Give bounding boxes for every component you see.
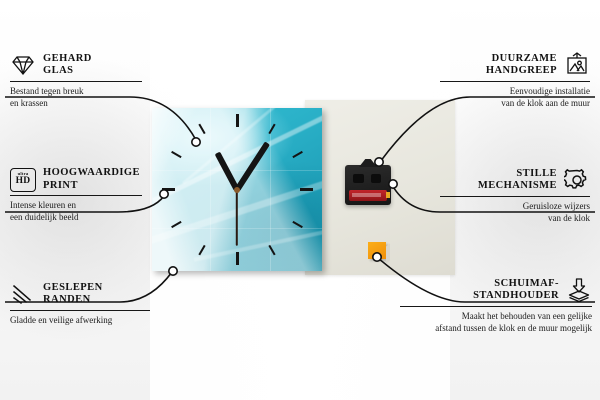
feature-stille-mechanisme: STILLE MECHANISME Geruisloze wijzers van… — [440, 167, 590, 224]
feature-desc-line2: afstand tussen de klok en de muur mogeli… — [435, 323, 592, 333]
feature-desc-line2: van de klok — [548, 213, 590, 223]
feature-desc-line1: Geruisloze wijzers — [523, 201, 590, 211]
feature-description: Bestand tegen breuk en krassen — [10, 86, 142, 109]
feature-desc-line2: en krassen — [10, 98, 48, 108]
feature-desc-line1: Bestand tegen breuk — [10, 86, 83, 96]
feature-hoogwaardige-print: ultra HD HOOGWAARDIGE PRINT Intense kleu… — [10, 167, 142, 223]
feature-desc-line1: Gladde en veilige afwerking — [10, 315, 112, 325]
feature-title: STILLE MECHANISME — [478, 168, 557, 193]
feature-header: GEHARD GLAS — [10, 52, 142, 78]
feature-callouts: GEHARD GLAS Bestand tegen breuk en krass… — [0, 0, 600, 400]
feature-divider — [400, 306, 592, 307]
feature-header: GESLEPEN RANDEN — [10, 281, 150, 307]
gear-icon — [564, 167, 590, 193]
feature-title-line2: HANDGREEP — [486, 65, 557, 76]
feature-title-line2: GLAS — [43, 65, 73, 76]
feature-title-line1: STILLE — [516, 168, 557, 179]
feature-header: STILLE MECHANISME — [440, 167, 590, 193]
feature-description: Intense kleuren en een duidelijk beeld — [10, 200, 142, 223]
feature-header: DUURZAME HANDGREEP — [440, 52, 590, 78]
feature-description: Gladde en veilige afwerking — [10, 315, 150, 327]
feature-gehard-glas: GEHARD GLAS Bestand tegen breuk en krass… — [10, 52, 142, 109]
feature-title-line1: HOOGWAARDIGE — [43, 167, 140, 178]
feature-divider — [10, 310, 150, 311]
feature-divider — [440, 196, 590, 197]
feature-schuimafstandhouder: SCHUIMAF- STANDHOUDER Maakt het behouden… — [400, 277, 592, 334]
feature-title-line1: SCHUIMAF- — [494, 278, 559, 289]
feature-desc-line1: Intense kleuren en — [10, 200, 76, 210]
infographic-canvas: GEHARD GLAS Bestand tegen breuk en krass… — [0, 0, 600, 400]
feature-desc-line1: Maakt het behouden van een gelijke — [462, 311, 592, 321]
feature-title: SCHUIMAF- STANDHOUDER — [473, 278, 559, 303]
feature-title: DUURZAME HANDGREEP — [486, 53, 557, 78]
feature-geslepen-randen: GESLEPEN RANDEN Gladde en veilige afwerk… — [10, 281, 150, 327]
feature-title: GEHARD GLAS — [43, 53, 92, 78]
ultra-hd-large-text: HD — [16, 177, 31, 187]
feature-header: ultra HD HOOGWAARDIGE PRINT — [10, 167, 142, 192]
feature-desc-line1: Eenvoudige installatie — [510, 86, 590, 96]
feature-header: SCHUIMAF- STANDHOUDER — [400, 277, 592, 303]
feature-title-line2: STANDHOUDER — [473, 290, 559, 301]
feature-desc-line2: een duidelijk beeld — [10, 212, 78, 222]
feature-title: GESLEPEN RANDEN — [43, 282, 103, 307]
foam-spacer-icon — [566, 277, 592, 303]
feature-title: HOOGWAARDIGE PRINT — [43, 167, 140, 192]
feature-desc-line2: van de klok aan de muur — [501, 98, 590, 108]
picture-hanger-icon — [564, 52, 590, 78]
feature-description: Maakt het behouden van een gelijke afsta… — [400, 311, 592, 334]
feature-description: Eenvoudige installatie van de klok aan d… — [440, 86, 590, 109]
feature-title-line1: DUURZAME — [492, 53, 557, 64]
ultra-hd-icon: ultra HD — [10, 168, 36, 192]
diamond-icon — [10, 52, 36, 78]
feature-description: Geruisloze wijzers van de klok — [440, 201, 590, 224]
feature-title-line2: RANDEN — [43, 294, 91, 305]
ground-edges-icon — [10, 281, 36, 307]
feature-duurzame-handgreep: DUURZAME HANDGREEP Eenvoudige installati… — [440, 52, 590, 109]
feature-divider — [10, 81, 142, 82]
feature-title-line2: MECHANISME — [478, 180, 557, 191]
feature-title-line1: GESLEPEN — [43, 282, 103, 293]
feature-title-line1: GEHARD — [43, 53, 92, 64]
feature-title-line2: PRINT — [43, 180, 78, 191]
feature-divider — [10, 195, 142, 196]
feature-divider — [440, 81, 590, 82]
